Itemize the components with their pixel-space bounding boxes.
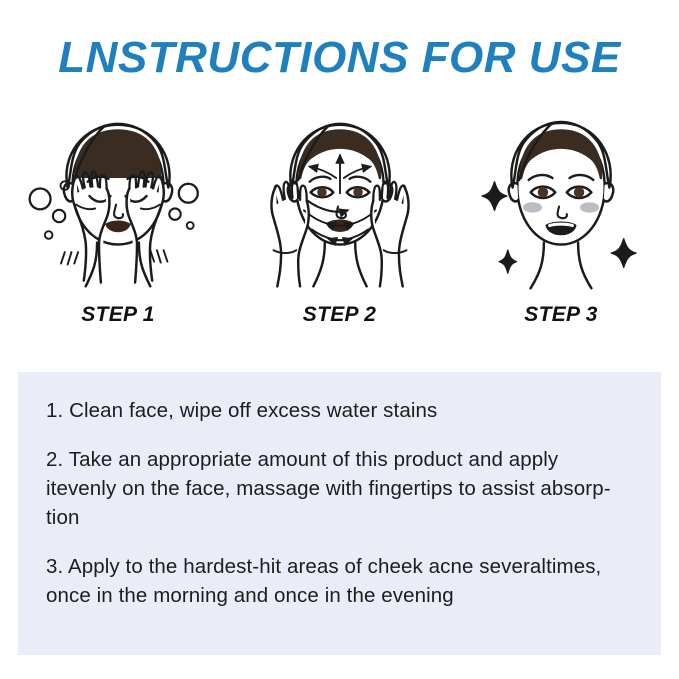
instructions-panel: 1. Clean face, wipe off excess water sta… bbox=[18, 372, 661, 655]
steps-row: STEP 1 bbox=[18, 100, 661, 350]
step-3: STEP 3 bbox=[461, 100, 661, 350]
woman-washing-face-with-bubbles-icon bbox=[23, 100, 213, 295]
step-1: STEP 1 bbox=[18, 100, 218, 350]
instruction-item-3: 3. Apply to the hardest-hit areas of che… bbox=[46, 552, 633, 610]
page-title: LNSTRUCTIONS FOR USE bbox=[0, 33, 679, 83]
step-3-label: STEP 3 bbox=[524, 303, 597, 327]
step-2-label: STEP 2 bbox=[303, 303, 376, 327]
step-2: STEP 2 bbox=[240, 100, 440, 350]
woman-smiling-with-sparkles-icon bbox=[466, 100, 656, 295]
instructions-poster: LNSTRUCTIONS FOR USE bbox=[0, 0, 679, 679]
woman-massaging-face-with-arrows-icon bbox=[245, 100, 435, 295]
step-1-label: STEP 1 bbox=[81, 303, 154, 327]
instruction-item-2: 2. Take an appropriate amount of this pr… bbox=[46, 445, 633, 532]
instruction-item-1: 1. Clean face, wipe off excess water sta… bbox=[46, 396, 633, 425]
